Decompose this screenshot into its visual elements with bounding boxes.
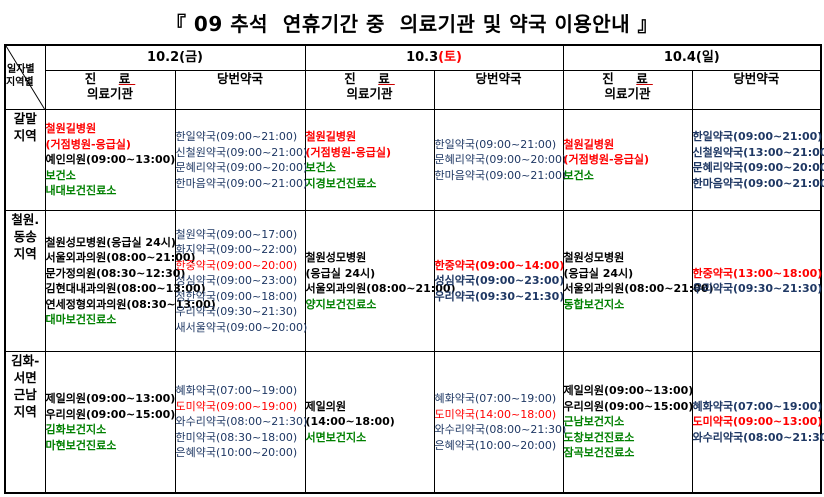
facility-entry: 와수리약국(08:00~21:30) — [435, 422, 563, 438]
facility-entry: 한마음약국(09:00~21:00) — [176, 176, 305, 192]
facility-entry: 새서울약국(09:00~20:00) — [176, 320, 305, 336]
table-head: 일자별 지역별 10.2(금) 10.3(토) 10.4(일) 진 료 의료기관 — [5, 45, 821, 110]
facility-entry: 문혜리약국(09:00~20:00) — [176, 160, 305, 176]
facility-entry: 혜화약국(07:00~19:00) — [435, 391, 563, 407]
facility-entry: 근남보건지소 — [564, 414, 692, 430]
facility-entry: 서울외과의원(08:00~21:00) — [46, 250, 175, 266]
header-date-1003: 10.3(토) — [305, 45, 563, 71]
page-root: 『 09 추석 연휴기간 중 의료기관 및 약국 이용안내 』 일자별 지역별 … — [0, 0, 824, 497]
header-row-subcolumns: 진 료 의료기관 당번약국 진 료 의료기관 당번약국 진 료 의료기관 — [5, 71, 821, 110]
facility-entry: 혜화약국(07:00~19:00) — [176, 383, 305, 399]
subheader-medical-line1: 진 료 — [564, 71, 692, 86]
table-row: 철원.동송지역철원성모병원(응급실 24시)서울외과의원(08:00~21:00… — [5, 211, 821, 352]
facility-entry: 김화보건지소 — [46, 422, 175, 438]
cell-10.2-pharmacy: 한일약국(09:00~21:00)신철원약국(09:00~21:00)문혜리약국… — [175, 110, 305, 211]
region-label-line: 서면 — [6, 369, 45, 386]
region-label-line: 철원. — [6, 211, 45, 228]
cell-10.2-pharmacy: 혜화약국(07:00~19:00)도미약국(09:00~19:00)와수리약국(… — [175, 352, 305, 494]
subheader-medical-1002: 진 료 의료기관 — [45, 71, 175, 110]
facility-entry: 철원길병원 — [306, 129, 434, 145]
facility-entry: 문혜리약국(09:00~20:00) — [693, 160, 821, 176]
facility-entry: (거점병원-응급실) — [306, 145, 434, 161]
facility-entry: 서울외과의원(08:00~21:00) — [306, 281, 434, 297]
cell-10.2-medical: 철원성모병원(응급실 24시)서울외과의원(08:00~21:00)문가정의원(… — [45, 211, 175, 352]
facility-entry: 한일약국(09:00~21:00) — [176, 129, 305, 145]
facility-entry: 도미약국(09:00~13:00) — [693, 414, 821, 430]
facility-entry: 도미약국(14:00~18:00) — [435, 407, 563, 423]
facility-entry: 내대보건진료소 — [46, 183, 175, 199]
region-label-line: 김화- — [6, 352, 45, 369]
subheader-pharmacy-label: 당번약국 — [733, 71, 779, 86]
facility-entry: 와수리약국(08:00~21:30) — [693, 430, 821, 446]
cell-10.2-medical: 제일의원(09:00~13:00)우리의원(09:00~15:00)김화보건지소… — [45, 352, 175, 494]
subheader-pharmacy-1003: 당번약국 — [434, 71, 563, 110]
subheader-pharmacy-1002: 당번약국 — [175, 71, 305, 110]
cell-10.2-pharmacy: 철원약국(09:00~17:00)화지약국(09:00~22:00)한중약국(0… — [175, 211, 305, 352]
facility-entry: 보건소 — [46, 168, 175, 184]
header-date-1003-day: 10.3 — [406, 50, 438, 65]
facility-entry: 한일약국(09:00~21:00) — [693, 129, 821, 145]
facility-entry: 은혜약국(10:00~20:00) — [176, 445, 305, 461]
subheader-medical-line2: 의료기관 — [564, 86, 692, 101]
corner-label-date: 일자별 — [7, 64, 35, 76]
region-label-line: 지역 — [6, 245, 45, 262]
region-label-cell: 김화-서면근남지역 — [5, 352, 45, 494]
table-row: 갈말지역철원길병원(거점병원-응급실)예인의원(09:00~13:00)보건소내… — [5, 110, 821, 211]
facility-entry: 양지보건진료소 — [306, 297, 434, 313]
facility-entry: 철원성모병원 — [564, 250, 692, 266]
facility-entry: 동합보건지소 — [564, 297, 692, 313]
cell-10.3-medical: 철원길병원(거점병원-응급실)보건소지경보건진료소 — [305, 110, 434, 211]
facility-entry: 보건소 — [564, 168, 692, 184]
facility-entry: 우리의원(09:00~15:00) — [46, 407, 175, 423]
facility-entry: 도창보건진료소 — [564, 430, 692, 446]
facility-entry: 은혜약국(10:00~20:00) — [435, 438, 563, 454]
cell-10.4-medical: 철원성모병원(응급실 24시)서울외과의원(08:00~21:00)동합보건지소 — [563, 211, 692, 352]
corner-label-region: 지역별 — [6, 77, 34, 89]
facility-entry: 제일의원 — [306, 399, 434, 415]
facility-entry: 한마음약국(09:00~21:00) — [693, 176, 821, 192]
subheader-medical-1003: 진 료 의료기관 — [305, 71, 434, 110]
facility-entry: 제일의원(09:00~13:00) — [46, 391, 175, 407]
cell-10.3-pharmacy: 한중약국(09:00~14:00)성심약국(09:00~23:00)우리약국(0… — [434, 211, 563, 352]
region-label-line: 근남 — [6, 386, 45, 403]
subheader-medical-line2: 의료기관 — [46, 86, 175, 101]
facility-entry: 철원성모병원 — [306, 250, 434, 266]
subheader-medical-1004: 진 료 의료기관 — [563, 71, 692, 110]
cell-10.4-pharmacy: 한일약국(09:00~21:00)신철원약국(13:00~21:00)문혜리약국… — [692, 110, 821, 211]
facility-entry: 화지약국(09:00~22:00) — [176, 242, 305, 258]
facility-entry: 철원길병원 — [46, 121, 175, 137]
facility-entry: 한일약국(09:00~21:00) — [435, 137, 563, 153]
facility-entry: 제일의원(09:00~13:00) — [564, 383, 692, 399]
facility-entry: 성심약국(09:00~23:00) — [435, 273, 563, 289]
facility-entry: 한중약국(13:00~18:00) — [693, 266, 821, 282]
facility-entry: 신철원약국(09:00~21:00) — [176, 145, 305, 161]
facility-entry: 철원길병원 — [564, 137, 692, 153]
facility-entry: 도미약국(09:00~19:00) — [176, 399, 305, 415]
facility-entry: 대마보건진료소 — [46, 312, 175, 328]
facility-entry: 예인의원(09:00~13:00) — [46, 152, 175, 168]
region-label-line: 지역 — [6, 403, 45, 420]
facility-entry: 혜화약국(07:00~19:00) — [693, 399, 821, 415]
facility-entry: 김현대내과의원(08:00~13:00) — [46, 281, 175, 297]
region-label-line: 지역 — [6, 127, 45, 144]
subheader-pharmacy-label: 당번약국 — [476, 71, 522, 86]
table-body: 갈말지역철원길병원(거점병원-응급실)예인의원(09:00~13:00)보건소내… — [5, 110, 821, 494]
cell-10.3-medical: 제일의원(14:00~18:00)서면보건지소 — [305, 352, 434, 494]
region-label-cell: 갈말지역 — [5, 110, 45, 211]
facility-entry: 지경보건진료소 — [306, 176, 434, 192]
facility-entry: 철원약국(09:00~17:00) — [176, 227, 305, 243]
cell-10.2-medical: 철원길병원(거점병원-응급실)예인의원(09:00~13:00)보건소내대보건진… — [45, 110, 175, 211]
subheader-medical-line2: 의료기관 — [306, 86, 434, 101]
region-label-line: 동송 — [6, 228, 45, 245]
facility-entry: (응급실 24시) — [306, 266, 434, 282]
facility-entry: 잠곡보건진료소 — [564, 445, 692, 461]
facility-entry: 와수리약국(08:00~21:30) — [176, 414, 305, 430]
facility-entry: 한마음약국(09:00~21:00) — [435, 168, 563, 184]
facility-entry: (14:00~18:00) — [306, 414, 434, 430]
facility-entry: 마현보건진료소 — [46, 438, 175, 454]
facility-entry: 보건소 — [306, 160, 434, 176]
facility-entry: 정한약국(09:00~18:00) — [176, 289, 305, 305]
page-title: 『 09 추석 연휴기간 중 의료기관 및 약국 이용안내 』 — [0, 0, 824, 44]
table-row: 김화-서면근남지역제일의원(09:00~13:00)우리의원(09:00~15:… — [5, 352, 821, 494]
facility-entry: 우리의원(09:00~15:00) — [564, 399, 692, 415]
subheader-medical-line1: 진 료 — [46, 71, 175, 86]
facility-entry: (거점병원-응급실) — [564, 152, 692, 168]
subheader-pharmacy-label: 당번약국 — [217, 71, 263, 86]
cell-10.4-medical: 철원길병원(거점병원-응급실)보건소 — [563, 110, 692, 211]
facility-entry: 서면보건지소 — [306, 430, 434, 446]
facility-entry: 문혜리약국(09:00~20:00) — [435, 152, 563, 168]
facility-entry: 우리약국(09:30~21:30) — [693, 281, 821, 297]
subheader-pharmacy-1004: 당번약국 — [692, 71, 821, 110]
cell-10.4-medical: 제일의원(09:00~13:00)우리의원(09:00~15:00)근남보건지소… — [563, 352, 692, 494]
facility-entry: 연세정형외과의원(08:30~13:00) — [46, 297, 175, 313]
facility-entry: 한중약국(09:00~14:00) — [435, 258, 563, 274]
header-row-dates: 일자별 지역별 10.2(금) 10.3(토) 10.4(일) — [5, 45, 821, 71]
corner-axis-cell: 일자별 지역별 — [5, 45, 45, 110]
header-date-1002-text: 10.2(금) — [147, 50, 203, 65]
facility-entry: 철원성모병원(응급실 24시) — [46, 235, 175, 251]
region-label-line: 갈말 — [6, 110, 45, 127]
header-date-1002: 10.2(금) — [45, 45, 305, 71]
facility-entry: 우리약국(09:30~21:30) — [435, 289, 563, 305]
cell-10.4-pharmacy: 한중약국(13:00~18:00)우리약국(09:30~21:30) — [692, 211, 821, 352]
header-date-1003-weekday: (토) — [438, 50, 462, 65]
region-label-cell: 철원.동송지역 — [5, 211, 45, 352]
cell-10.4-pharmacy: 혜화약국(07:00~19:00)도미약국(09:00~13:00)와수리약국(… — [692, 352, 821, 494]
facility-entry: 성심약국(09:00~23:00) — [176, 273, 305, 289]
subheader-medical-line1: 진 료 — [306, 71, 434, 86]
facility-entry: (거점병원-응급실) — [46, 137, 175, 153]
header-date-1004-text: 10.4(일) — [664, 50, 720, 65]
schedule-table: 일자별 지역별 10.2(금) 10.3(토) 10.4(일) 진 료 의료기관 — [4, 44, 822, 494]
cell-10.3-pharmacy: 혜화약국(07:00~19:00)도미약국(14:00~18:00)와수리약국(… — [434, 352, 563, 494]
facility-entry: 한미약국(08:30~18:00) — [176, 430, 305, 446]
facility-entry: 우리약국(09:30~21:30) — [176, 304, 305, 320]
facility-entry: (응급실 24시) — [564, 266, 692, 282]
header-date-1004: 10.4(일) — [563, 45, 821, 71]
cell-10.3-medical: 철원성모병원(응급실 24시)서울외과의원(08:00~21:00)양지보건진료… — [305, 211, 434, 352]
facility-entry: 서울외과의원(08:00~21:00) — [564, 281, 692, 297]
facility-entry: 문가정의원(08:30~12:30) — [46, 266, 175, 282]
cell-10.3-pharmacy: 한일약국(09:00~21:00)문혜리약국(09:00~20:00)한마음약국… — [434, 110, 563, 211]
facility-entry: 신철원약국(13:00~21:00) — [693, 145, 821, 161]
facility-entry: 한중약국(09:00~20:00) — [176, 258, 305, 274]
